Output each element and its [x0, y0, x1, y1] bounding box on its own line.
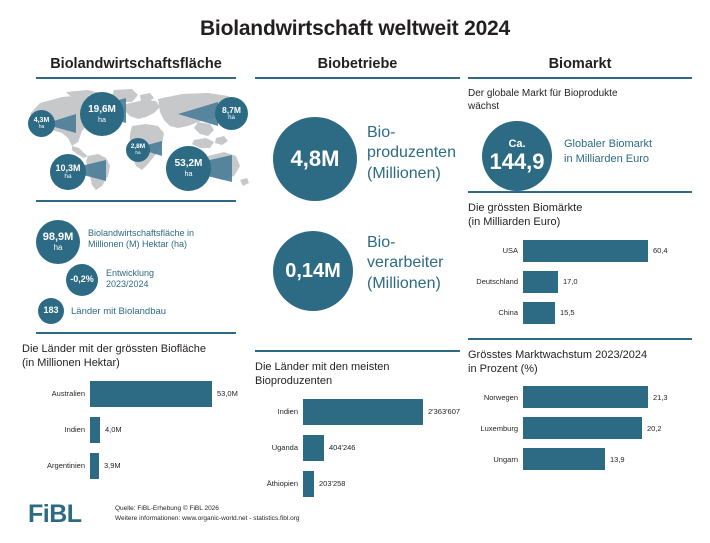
- label-line-2: produzenten: [367, 143, 456, 163]
- bar-label: Indien: [255, 407, 303, 416]
- label-line-1: Globaler Biomarkt: [564, 137, 652, 152]
- bar-label: Deutschland: [468, 277, 523, 286]
- bar-value: 13,9: [605, 455, 625, 464]
- global-market-circle: Ca. 144,9: [482, 121, 552, 191]
- bar-value: 3,9M: [99, 461, 121, 470]
- stat-change: -0,2%: [66, 264, 98, 296]
- column-organic-farms: Biobetriebe 4,8M Bio- produzenten (Milli…: [255, 56, 460, 499]
- chart-bars: USA 60,4 Deutschland 17,0 China 15,5: [468, 238, 692, 326]
- map-bubble-africa: 2,8M ha: [126, 138, 150, 162]
- footer: FiBL Quelle: FiBL-Erhebung © FiBL 2026 W…: [0, 498, 710, 543]
- bubble-unit: ha: [185, 170, 193, 177]
- stat-processors: 0,14M Bio- verarbeiter (Millionen): [255, 225, 460, 325]
- bar-label: Äthiopien: [255, 479, 303, 488]
- chart-title-line-1: Die grössten Biomärkte: [468, 201, 692, 215]
- world-map: 4,3M ha 19,6M ha 8,7M ha 2,8M ha 10,3M h…: [22, 86, 250, 192]
- bar-fill: [523, 417, 642, 439]
- bar-label: Argentinien: [22, 461, 90, 470]
- label-line-1: Bio-: [367, 123, 456, 143]
- bar-label: Australien: [22, 389, 90, 398]
- map-bubble-south-america: 10,3M ha: [50, 154, 86, 190]
- lead-line-1: Der globale Markt für Bioprodukte: [468, 87, 692, 100]
- bubble-value: 10,3M: [55, 164, 80, 173]
- bubble-unit: ha: [228, 115, 235, 121]
- label-line-2: Millionen (M) Hektar (ha): [88, 239, 194, 250]
- section-divider-area-chart: [36, 332, 236, 334]
- column-heading-organic-farms: Biobetriebe: [255, 56, 460, 77]
- chart-title: Die Länder mit der grössten Biofläche (i…: [22, 342, 250, 371]
- producers-circle: 4,8M: [273, 117, 357, 201]
- chart-title-line-2: (in Milliarden Euro): [468, 215, 692, 229]
- chart-title: Die Länder mit den meisten Bioproduzente…: [255, 360, 460, 389]
- label-line-2: 2023/2024: [106, 279, 154, 290]
- infographic-page: Biolandwirtschaft weltweit 2024 Biolandw…: [0, 0, 710, 543]
- bubble-unit: ha: [135, 151, 140, 156]
- label-line-1: Biolandwirtschaftsfläche in: [88, 228, 194, 239]
- section-divider-growth-chart: [468, 338, 692, 340]
- bar-fill: [90, 381, 212, 407]
- column-heading-organic-market: Biomarkt: [468, 56, 692, 77]
- stat-value: 144,9: [489, 151, 544, 173]
- chart-title-line-2: (in Millionen Hektar): [22, 356, 250, 370]
- bar-value: 15,5: [555, 308, 575, 317]
- bar-value: 21,3: [648, 393, 668, 402]
- bubble-unit: ha: [64, 174, 71, 180]
- bubble-unit: ha: [98, 116, 106, 123]
- bar-fill: [523, 271, 558, 293]
- bar-fill: [303, 471, 314, 497]
- map-bubble-asia: 8,7M ha: [215, 97, 248, 130]
- chart-title-line-2: in Prozent (%): [468, 362, 692, 376]
- chart-largest-market-growth: Grösstes Marktwachstum 2023/2024 in Proz…: [468, 348, 692, 473]
- stat-countries-label: Länder mit Biolandbau: [71, 306, 166, 318]
- bar-label: USA: [468, 246, 523, 255]
- stat-producers: 4,8M Bio- produzenten (Millionen): [255, 111, 460, 211]
- section-divider-markets-chart: [468, 191, 692, 193]
- map-bubble-europe: 19,6M ha: [80, 92, 124, 136]
- area-stat-group: 98,9M ha Biolandwirtschaftsfläche in Mil…: [22, 214, 250, 310]
- label-line-2: verarbeiter: [367, 253, 443, 273]
- bar-row: China 15,5: [468, 300, 692, 326]
- bubble-unit: ha: [39, 125, 45, 130]
- chart-title-line-2: Bioproduzenten: [255, 374, 460, 388]
- processors-label: Bio- verarbeiter (Millionen): [367, 233, 443, 294]
- stat-value: -0,2%: [70, 275, 94, 284]
- bar-value: 60,4: [648, 246, 668, 255]
- label-line-1: Entwicklung: [106, 268, 154, 279]
- stat-change-label: Entwicklung 2023/2024: [106, 268, 154, 291]
- bar-value: 2'363'607: [423, 407, 460, 416]
- bar-fill: [523, 302, 555, 324]
- stat-unit: ha: [54, 244, 63, 252]
- heading-rule: [36, 77, 236, 79]
- global-market-label: Globaler Biomarkt in Milliarden Euro: [564, 137, 652, 167]
- bar-row: Deutschland 17,0: [468, 269, 692, 295]
- bar-value: 53,0M: [212, 389, 238, 398]
- chart-bars: Norwegen 21,3 Luxemburg 20,2 Ungarn 13,9: [468, 384, 692, 472]
- bar-label: Indien: [22, 425, 90, 434]
- stat-total-area-label: Biolandwirtschaftsfläche in Millionen (M…: [88, 228, 194, 251]
- bubble-value: 8,7M: [222, 106, 241, 115]
- bar-row: Äthiopien 203'258: [255, 469, 460, 499]
- producers-label: Bio- produzenten (Millionen): [367, 123, 456, 184]
- heading-rule: [468, 77, 692, 79]
- chart-largest-organic-markets: Die grössten Biomärkte (in Milliarden Eu…: [468, 201, 692, 326]
- bar-value: 20,2: [642, 424, 662, 433]
- stat-global-market: Ca. 144,9 Globaler Biomarkt in Milliarde…: [468, 117, 692, 191]
- chart-bars: Indien 2'363'607 Uganda 404'246 Äthiopie…: [255, 397, 460, 499]
- bubble-value: 4,3M: [34, 117, 50, 124]
- stat-countries: 183: [38, 298, 64, 324]
- map-bubble-north-america: 4,3M ha: [28, 110, 55, 137]
- section-divider-area-stats: [36, 200, 236, 202]
- bar-row: USA 60,4: [468, 238, 692, 264]
- map-bubble-oceania: 53,2M ha: [166, 146, 211, 191]
- bar-fill: [523, 240, 648, 262]
- bar-value: 17,0: [558, 277, 578, 286]
- stat-value: 183: [43, 306, 58, 315]
- lead-line-2: wächst: [468, 100, 692, 113]
- footer-source: Quelle: FiBL-Erhebung © FiBL 2026: [115, 504, 299, 514]
- label-line-3: (Millionen): [367, 164, 456, 184]
- bar-row: Ungarn 13,9: [468, 446, 692, 472]
- heading-rule: [255, 77, 460, 79]
- label-line-1: Bio-: [367, 233, 443, 253]
- bar-fill: [523, 448, 605, 470]
- market-lead-text: Der globale Markt für Bioprodukte wächst: [468, 87, 692, 113]
- bar-fill: [90, 453, 99, 479]
- fibl-logo: FiBL: [28, 500, 82, 529]
- bar-row: Norwegen 21,3: [468, 384, 692, 410]
- bar-fill: [90, 417, 100, 443]
- bar-label: Ungarn: [468, 455, 523, 464]
- bar-row: Luxemburg 20,2: [468, 415, 692, 441]
- bar-row: Uganda 404'246: [255, 433, 460, 463]
- bar-value: 4,0M: [100, 425, 122, 434]
- bar-value: 203'258: [314, 479, 345, 488]
- chart-title: Die grössten Biomärkte (in Milliarden Eu…: [468, 201, 692, 230]
- bar-label: Luxemburg: [468, 424, 523, 433]
- column-heading-organic-area: Biolandwirtschaftsfläche: [22, 56, 250, 77]
- stat-total-area: 98,9M ha: [36, 220, 80, 264]
- stat-value: 4,8M: [291, 146, 340, 172]
- footer-credit: Quelle: FiBL-Erhebung © FiBL 2026 Weiter…: [115, 504, 299, 525]
- bar-row: Argentinien 3,9M: [22, 451, 250, 481]
- column-organic-market: Biomarkt Der globale Markt für Bioproduk…: [468, 56, 692, 472]
- chart-largest-organic-area: Die Länder mit der grössten Biofläche (i…: [22, 342, 250, 481]
- chart-title-line-1: Die Länder mit den meisten: [255, 360, 460, 374]
- bubble-value: 53,2M: [175, 159, 203, 169]
- bar-label: China: [468, 308, 523, 317]
- bar-fill: [523, 386, 648, 408]
- processors-circle: 0,14M: [273, 231, 353, 311]
- chart-most-organic-producers: Die Länder mit den meisten Bioproduzente…: [255, 360, 460, 499]
- bar-label: Uganda: [255, 443, 303, 452]
- chart-title-line-1: Grösstes Marktwachstum 2023/2024: [468, 348, 692, 362]
- footer-more-info: Weitere informationen: www.organic-world…: [115, 514, 299, 524]
- bar-row: Indien 2'363'607: [255, 397, 460, 427]
- stat-value: 98,9M: [43, 232, 74, 244]
- stat-value: 0,14M: [285, 260, 341, 283]
- page-title: Biolandwirtschaft weltweit 2024: [0, 17, 710, 41]
- label-line-3: (Millionen): [367, 274, 443, 294]
- label-line-2: in Milliarden Euro: [564, 152, 652, 167]
- chart-bars: Australien 53,0M Indien 4,0M Argentinien…: [22, 379, 250, 481]
- bar-fill: [303, 399, 423, 425]
- chart-title-line-1: Die Länder mit der grössten Biofläche: [22, 342, 250, 356]
- chart-title: Grösstes Marktwachstum 2023/2024 in Proz…: [468, 348, 692, 377]
- bubble-value: 19,6M: [88, 105, 116, 115]
- bar-label: Norwegen: [468, 393, 523, 402]
- section-divider-producers-chart: [255, 350, 460, 352]
- bar-row: Indien 4,0M: [22, 415, 250, 445]
- bar-value: 404'246: [324, 443, 355, 452]
- bar-row: Australien 53,0M: [22, 379, 250, 409]
- bar-fill: [303, 435, 324, 461]
- column-organic-area: Biolandwirtschaftsfläche: [22, 56, 250, 481]
